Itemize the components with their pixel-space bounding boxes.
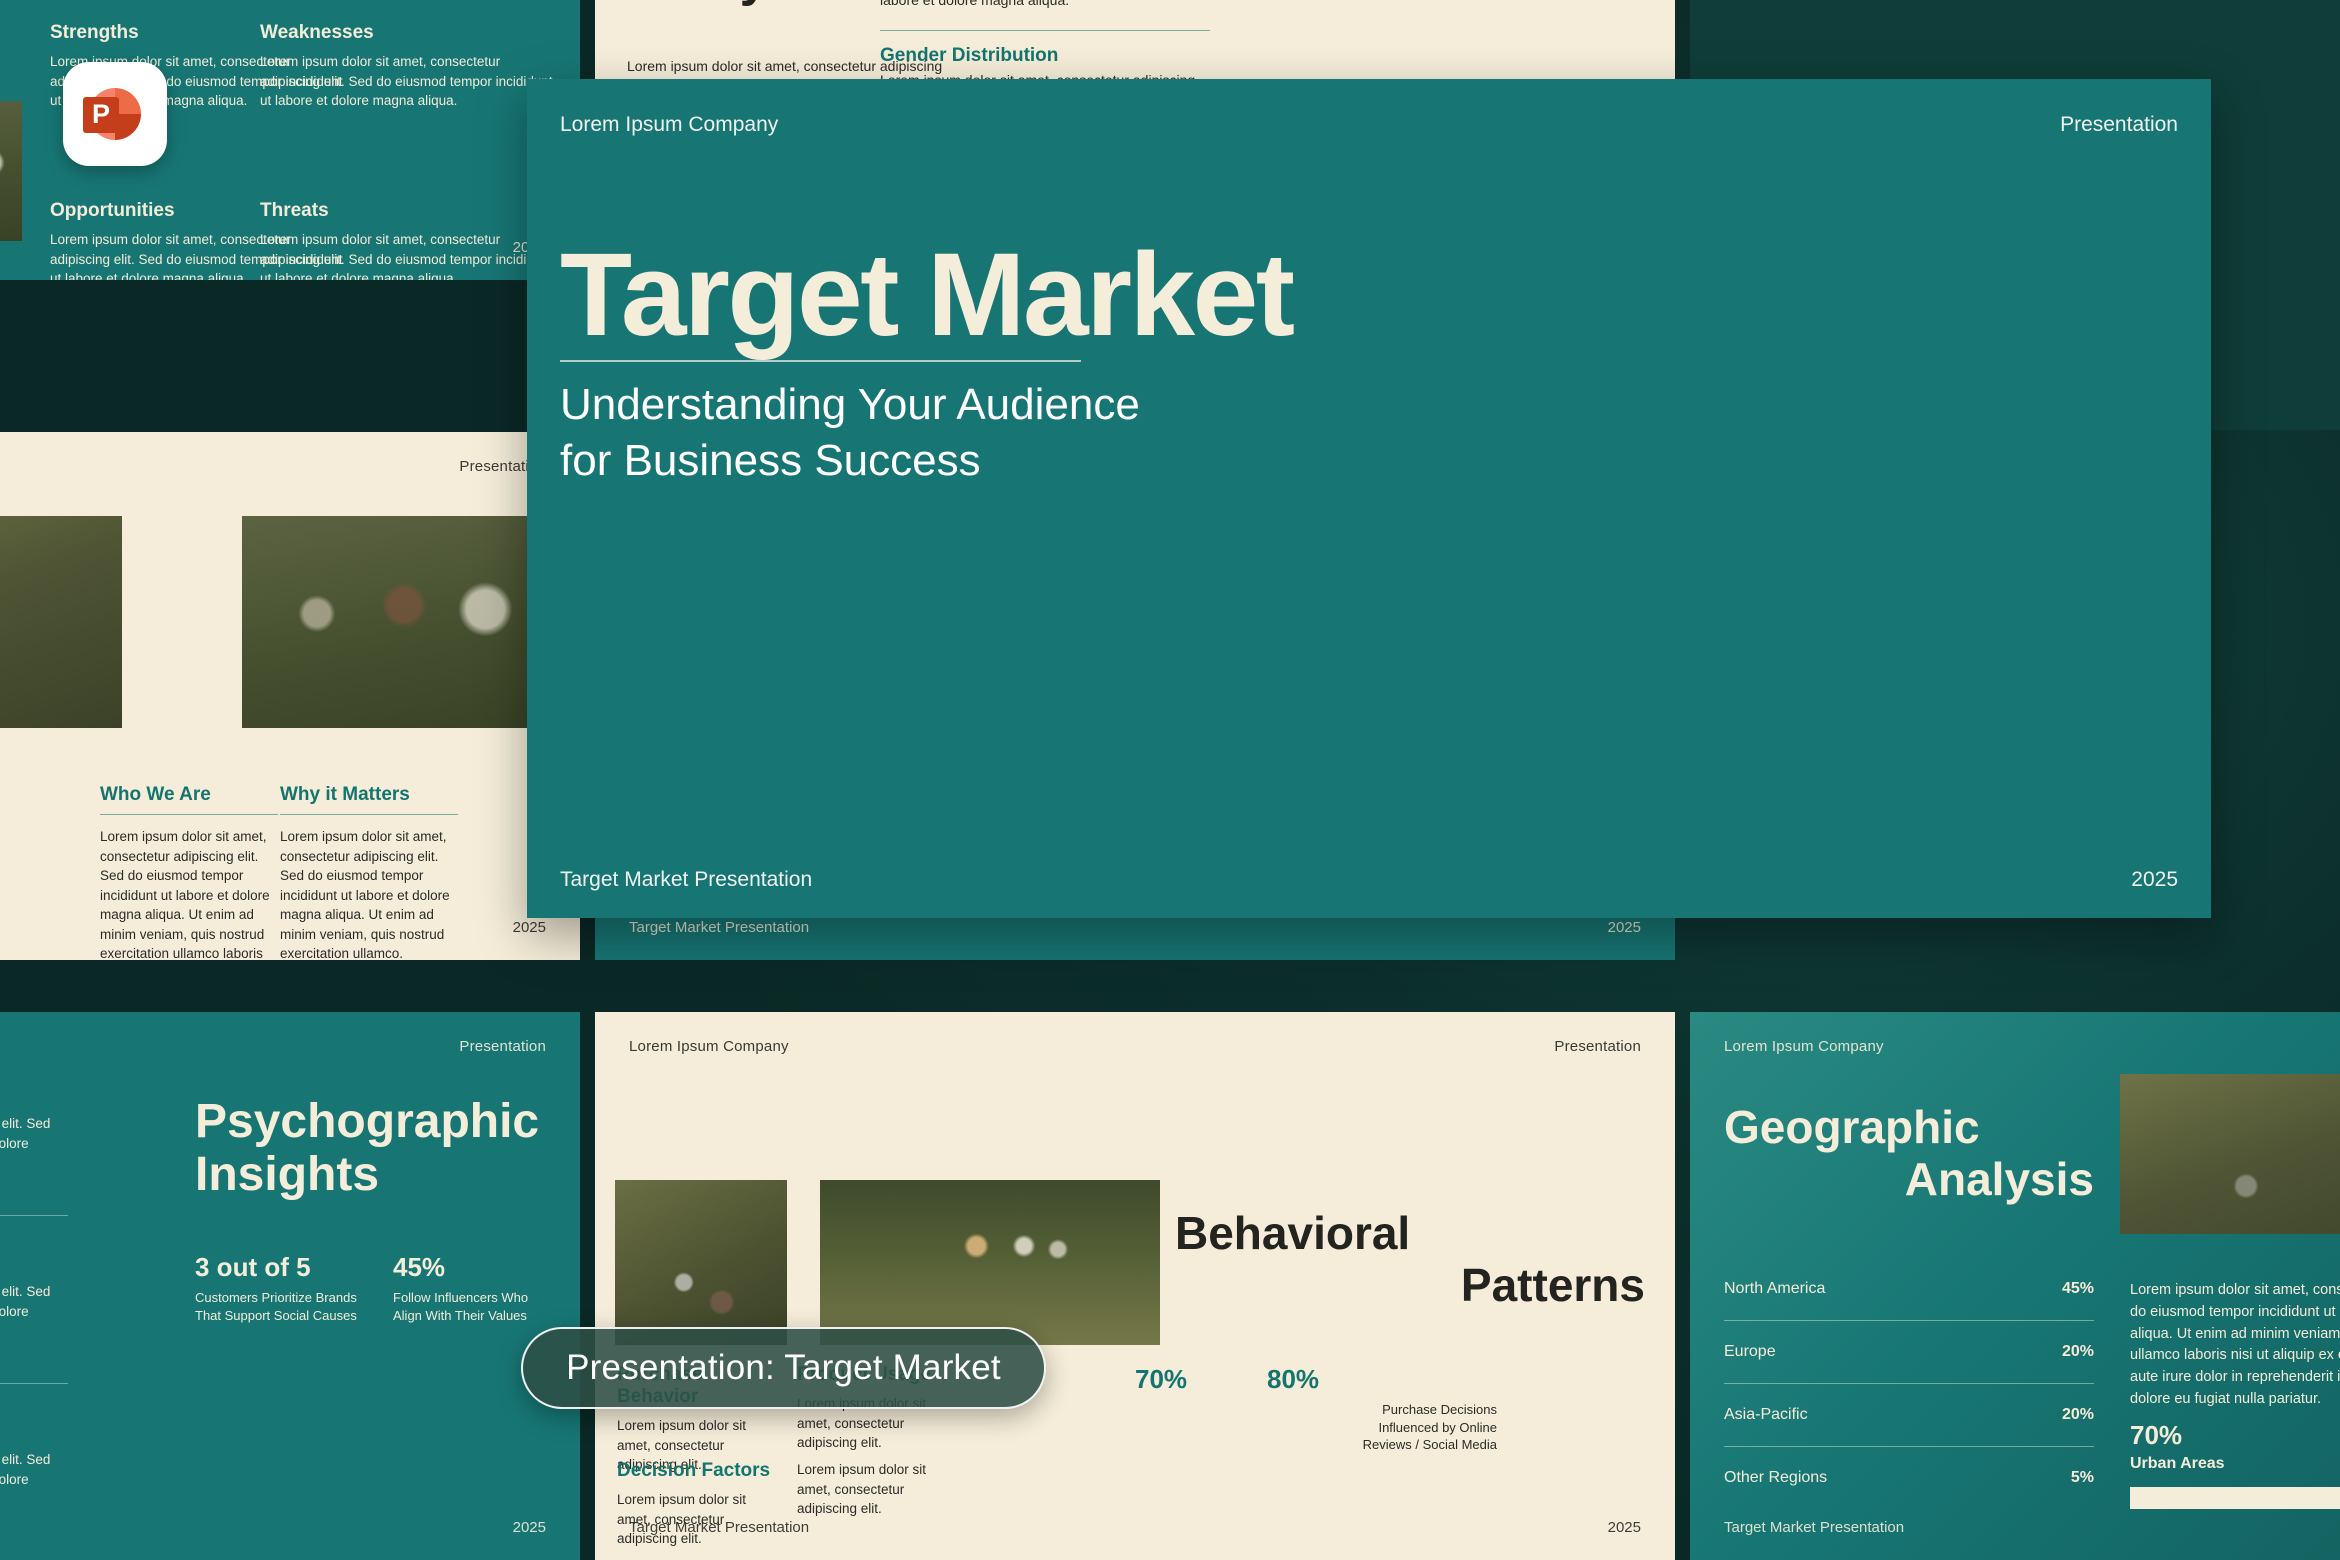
table-row: Europe 20% bbox=[1724, 1321, 2094, 1383]
psychographic-left-body: ipsum dolor sit amet, consectetur ing el… bbox=[0, 1114, 68, 1173]
svg-text:P: P bbox=[92, 99, 110, 129]
intro-column-who-we-are: Who We Are Lorem ipsum dolor sit amet, c… bbox=[100, 784, 278, 960]
intro-column-rule bbox=[100, 814, 278, 815]
geographic-region-label: North America bbox=[1724, 1280, 1825, 1298]
demographic-gender-heading: Gender Distribution bbox=[880, 45, 1058, 67]
table-row: Other Regions 5% bbox=[1724, 1447, 2094, 1487]
geographic-region-value: 20% bbox=[2062, 1343, 2094, 1361]
psychographic-stat: 3 out of 5 Customers Prioritize Brands T… bbox=[195, 1252, 375, 1324]
overlay-kind-label: Presentation bbox=[2060, 113, 2178, 137]
slide-thumbnail-behavioral[interactable]: Lorem Ipsum Company Presentation Behavio… bbox=[595, 1012, 1675, 1560]
swot-heading: Weaknesses bbox=[260, 22, 560, 44]
geographic-highlight-value: 70% bbox=[2130, 1420, 2340, 1451]
behavioral-photo-right bbox=[820, 1180, 1160, 1345]
psychographic-left-heading: yle bbox=[0, 1084, 68, 1106]
intro-title-line1: n to bbox=[0, 782, 5, 829]
table-row: Asia-Pacific 20% bbox=[1724, 1384, 2094, 1446]
slide-thumbnail-intro[interactable]: Presentation n to ket Who We Are Lorem i… bbox=[0, 432, 580, 960]
geographic-region-value: 20% bbox=[2062, 1406, 2094, 1424]
geographic-region-value: 5% bbox=[2071, 1469, 2094, 1487]
psychographic-stat-caption-line2: That Support Social Causes bbox=[195, 1307, 375, 1325]
geographic-company-label: Lorem Ipsum Company bbox=[1724, 1038, 1884, 1055]
psychographic-left-body: ipsum dolor sit amet, consectetur ing el… bbox=[0, 1282, 68, 1341]
overlay-title: Target Market bbox=[560, 236, 1650, 354]
overlay-subtitle-line2: for Business Success bbox=[560, 433, 1560, 489]
psychographic-stat-value: 45% bbox=[393, 1252, 573, 1283]
intro-title: n to ket bbox=[0, 782, 5, 876]
psychographic-stat-caption-line1: Follow Influencers Who bbox=[393, 1289, 573, 1307]
overlay-footer-left: Target Market Presentation bbox=[560, 868, 812, 892]
intro-title-line2: ket bbox=[0, 829, 5, 876]
swot-heading: Threats bbox=[260, 200, 560, 222]
psychographic-left-rule bbox=[0, 1215, 68, 1216]
psychographic-stat-value: 3 out of 5 bbox=[195, 1252, 375, 1283]
table-row: North America 45% bbox=[1724, 1280, 2094, 1320]
psychographic-left-block-values: s ipsum dolor sit amet, consectetur ing … bbox=[0, 1252, 68, 1396]
psychographic-title-line2: Insights bbox=[195, 1149, 515, 1202]
psychographic-kind-label: Presentation bbox=[459, 1038, 546, 1055]
overlay-subtitle: Understanding Your Audience for Business… bbox=[560, 377, 1560, 490]
geographic-progress-bar bbox=[2130, 1487, 2340, 1509]
intro-column-body: Lorem ipsum dolor sit amet, consectetur … bbox=[100, 827, 278, 960]
swot-body: Lorem ipsum dolor sit amet, consectetur … bbox=[260, 52, 560, 111]
active-slide-preview[interactable]: Lorem Ipsum Company Presentation Target … bbox=[527, 79, 2211, 918]
behavioral-block-body: Lorem ipsum dolor sit amet, consectetur … bbox=[797, 1460, 962, 1519]
psychographic-left-block-hobbies: ies and Interests ipsum dolor sit amet, … bbox=[0, 1420, 68, 1509]
midteal-footer-left: Target Market Presentation bbox=[629, 919, 809, 936]
behavioral-title-line1: Behavioral bbox=[1175, 1208, 1645, 1260]
intro-footer-year: 2025 bbox=[513, 919, 546, 936]
behavioral-kind-label: Presentation bbox=[1554, 1038, 1641, 1055]
behavioral-footer-year: 2025 bbox=[1608, 1519, 1641, 1536]
psychographic-stat: 45% Follow Influencers Who Align With Th… bbox=[393, 1252, 573, 1324]
slide-thumbnail-psychographic[interactable]: Presentation yle ipsum dolor sit amet, c… bbox=[0, 1012, 580, 1560]
geographic-footer-left: Target Market Presentation bbox=[1724, 1519, 1904, 1536]
overlay-title-rule bbox=[560, 360, 1081, 362]
geographic-title-line2: Analysis bbox=[1724, 1154, 2094, 1206]
demographic-right-rule bbox=[880, 30, 1210, 31]
psychographic-stat-caption-line2: Align With Their Values bbox=[393, 1307, 573, 1325]
behavioral-footer-left: Target Market Presentation bbox=[629, 1519, 809, 1536]
intro-column-body: Lorem ipsum dolor sit amet, consectetur … bbox=[280, 827, 458, 960]
behavioral-block-decision-secondary: Lorem ipsum dolor sit amet, consectetur … bbox=[797, 1460, 962, 1519]
psychographic-left-block-lifestyle: yle ipsum dolor sit amet, consectetur in… bbox=[0, 1084, 68, 1228]
intro-photo-right bbox=[242, 516, 554, 728]
behavioral-company-label: Lorem Ipsum Company bbox=[629, 1038, 789, 1055]
behavioral-stat-caption-line3: Reviews / Social Media bbox=[1267, 1436, 1497, 1454]
overlay-company-label: Lorem Ipsum Company bbox=[560, 113, 778, 137]
psychographic-footer-year: 2025 bbox=[513, 1519, 546, 1536]
intro-column-heading: Who We Are bbox=[100, 784, 278, 806]
status-tooltip-label: Presentation: Target Market bbox=[566, 1348, 1001, 1388]
slide-thumbnail-geographic[interactable]: Lorem Ipsum Company Geographic Analysis … bbox=[1690, 1012, 2340, 1560]
intro-column-heading: Why it Matters bbox=[280, 784, 458, 806]
demographic-right-body: adipiscing elit. Sed do eiusmod tempor i… bbox=[880, 0, 1210, 11]
psychographic-left-heading: s bbox=[0, 1252, 68, 1274]
geographic-side-body: Lorem ipsum dolor sit amet, consectetur … bbox=[2130, 1280, 2340, 1411]
swot-photo bbox=[0, 101, 22, 241]
psychographic-title-line1: Psychographic bbox=[195, 1096, 515, 1149]
intro-photo-left bbox=[0, 516, 122, 728]
psychographic-left-body: ipsum dolor sit amet, consectetur ing el… bbox=[0, 1450, 68, 1509]
behavioral-title: Behavioral Patterns bbox=[1175, 1208, 1645, 1311]
geographic-region-label: Other Regions bbox=[1724, 1469, 1827, 1487]
psychographic-left-heading: ies and Interests bbox=[0, 1420, 68, 1442]
overlay-footer-year: 2025 bbox=[2131, 868, 2178, 892]
midteal-footer-year: 2025 bbox=[1608, 919, 1641, 936]
geographic-highlight-label: Urban Areas bbox=[2130, 1455, 2340, 1473]
psychographic-left-rule bbox=[0, 1383, 68, 1384]
behavioral-block-heading: Decision Factors bbox=[617, 1460, 782, 1482]
geographic-title: Geographic Analysis bbox=[1724, 1102, 2094, 1205]
swot-block-weaknesses: Weaknesses Lorem ipsum dolor sit amet, c… bbox=[260, 22, 560, 111]
geographic-region-value: 45% bbox=[2062, 1280, 2094, 1298]
geographic-region-label: Europe bbox=[1724, 1343, 1776, 1361]
geographic-region-table: North America 45% Europe 20% Asia-Pacifi… bbox=[1724, 1280, 2094, 1487]
behavioral-photo-left bbox=[615, 1180, 787, 1345]
behavioral-title-line2: Patterns bbox=[1175, 1260, 1645, 1312]
overlay-subtitle-line1: Understanding Your Audience bbox=[560, 377, 1560, 433]
psychographic-stat-caption-line1: Customers Prioritize Brands bbox=[195, 1289, 375, 1307]
behavioral-stat: 80% Purchase Decisions Influenced by Onl… bbox=[1267, 1364, 1497, 1454]
geographic-title-line1: Geographic bbox=[1724, 1102, 2094, 1154]
powerpoint-glyph: P bbox=[63, 62, 167, 166]
intro-column-why-it-matters: Why it Matters Lorem ipsum dolor sit ame… bbox=[280, 784, 458, 960]
status-tooltip: Presentation: Target Market bbox=[521, 1327, 1046, 1409]
behavioral-stat-value: 80% bbox=[1267, 1364, 1497, 1395]
intro-column-rule bbox=[280, 814, 458, 815]
geographic-highlight: 70% Urban Areas bbox=[2130, 1420, 2340, 1509]
behavioral-stat-caption-line2: Influenced by Online bbox=[1267, 1419, 1497, 1437]
powerpoint-icon[interactable]: P bbox=[63, 62, 167, 166]
geographic-photo bbox=[2120, 1074, 2340, 1234]
psychographic-title: Psychographic Insights bbox=[195, 1096, 515, 1202]
geographic-region-label: Asia-Pacific bbox=[1724, 1406, 1808, 1424]
behavioral-stat-caption-line1: Purchase Decisions bbox=[1267, 1401, 1497, 1419]
